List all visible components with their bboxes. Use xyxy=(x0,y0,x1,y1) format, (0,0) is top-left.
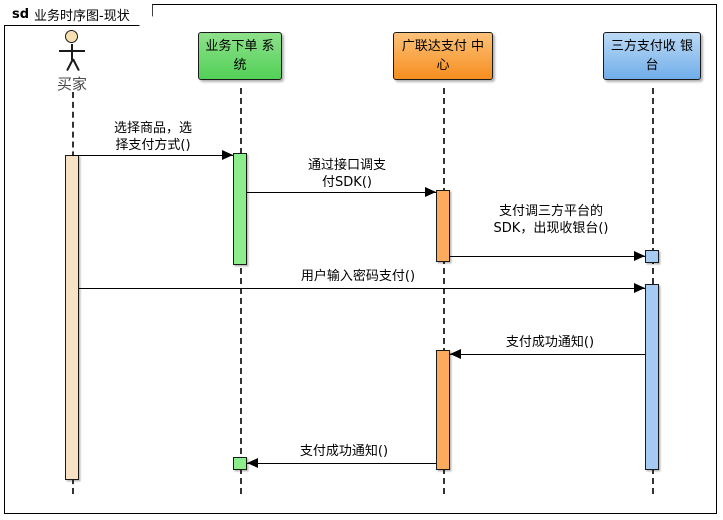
participant-label-third-party-cashier: 三方支付收 银台 xyxy=(608,37,696,75)
actor-arms-icon xyxy=(59,50,85,52)
participant-box-glodon-pay-center[interactable]: 广联达支付 中心 xyxy=(393,32,493,80)
message-line-1 xyxy=(72,155,233,156)
lifeline-order-system xyxy=(240,88,242,494)
participant-label-glodon-pay-center: 广联达支付 中心 xyxy=(398,37,488,75)
frame-title-text: 业务时序图-现状 xyxy=(34,5,130,24)
message-label-4: 用户输入密码支付() xyxy=(248,268,468,285)
actor-head-icon xyxy=(65,30,78,43)
message-label-5: 支付成功通知() xyxy=(450,334,650,351)
message-line-4 xyxy=(79,288,645,289)
actor-label-buyer: 买家 xyxy=(57,73,87,94)
message-line-6 xyxy=(247,463,436,464)
message-line-2 xyxy=(247,192,436,193)
message-label-3: 支付调三方平台的 SDK，出现收银台() xyxy=(441,203,661,237)
message-arrowhead-3-icon xyxy=(634,251,645,261)
participant-box-order-system[interactable]: 业务下单 系统 xyxy=(198,32,282,80)
activation-bar-third-party-cashier-2 xyxy=(645,284,659,470)
message-arrowhead-4-icon xyxy=(634,283,645,293)
diagram-frame xyxy=(4,4,717,514)
message-label-1: 选择商品，选 择支付方式() xyxy=(78,120,228,154)
message-line-5 xyxy=(450,354,645,355)
frame-keyword: sd xyxy=(12,7,29,22)
message-label-6: 支付成功通知() xyxy=(244,443,444,460)
activation-bar-third-party-cashier-1 xyxy=(645,250,659,263)
participant-box-third-party-cashier[interactable]: 三方支付收 银台 xyxy=(603,32,701,80)
activation-bar-buyer xyxy=(65,155,79,480)
frame-title-pentagon: sd 业务时序图-现状 xyxy=(4,4,153,26)
message-line-3 xyxy=(450,256,645,257)
sequence-diagram-canvas: sd 业务时序图-现状 买家 业务下单 系统 广联达支付 中心 三方支付收 银台… xyxy=(0,0,723,520)
participant-label-order-system: 业务下单 系统 xyxy=(203,37,277,75)
activation-bar-order-system-1 xyxy=(233,153,247,265)
message-label-2: 通过接口调支 付SDK() xyxy=(262,157,432,191)
